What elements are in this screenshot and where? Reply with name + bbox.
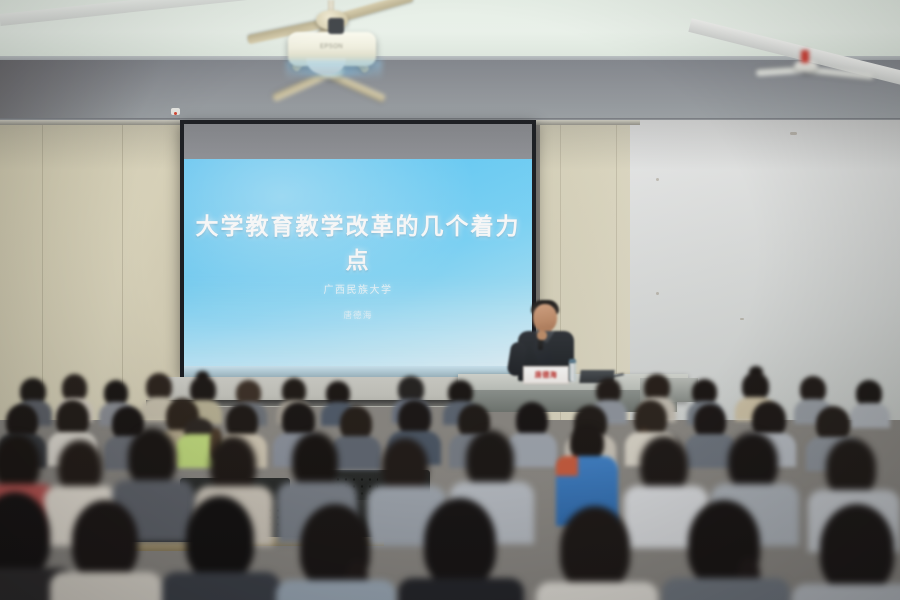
person-hair	[292, 432, 338, 488]
person-hair	[128, 428, 176, 486]
presenter-hand	[537, 331, 547, 340]
slide-subtitle-organization: 广西民族大学	[184, 281, 532, 296]
name-placard: 唐德海	[523, 366, 569, 384]
person-hair	[382, 438, 428, 492]
person-body	[331, 436, 381, 470]
projector-brand-label: EPSON	[320, 44, 343, 50]
person-hair	[186, 496, 254, 580]
lecture-hall-photo: EPSON 大学教育教学改革的几个着力点 广西民族大学 唐德海	[0, 0, 900, 600]
slide-title: 大学教育教学改革的几个着力点	[184, 207, 532, 275]
person-hair	[466, 430, 514, 488]
person-body	[50, 572, 162, 600]
person-body	[536, 582, 658, 600]
ceiling-fan-right	[760, 48, 900, 94]
person-hair	[640, 436, 688, 492]
water-bottle-cap	[569, 359, 576, 363]
screen-letterbox-band	[184, 124, 532, 159]
person-body	[662, 578, 790, 600]
person-hair	[516, 402, 548, 437]
person-hair	[816, 406, 850, 441]
person-hair	[190, 376, 216, 403]
projector-light-beam	[286, 60, 382, 80]
slide-subtitle-presenter: 唐德海	[184, 309, 532, 321]
person-hair	[72, 500, 138, 580]
person-body	[850, 403, 890, 428]
person-hair	[146, 373, 172, 400]
person-hair	[694, 404, 726, 438]
person-hair	[742, 372, 769, 400]
person-hair	[820, 504, 894, 592]
water-bottle	[569, 362, 576, 382]
wall-mark	[656, 292, 659, 295]
person-hair	[340, 406, 372, 440]
presentation-slide: 大学教育教学改革的几个着力点 广西民族大学 唐德海	[184, 159, 532, 366]
person-hair	[58, 440, 102, 492]
person-body	[792, 584, 900, 600]
person-hair	[6, 404, 38, 438]
person-body	[276, 580, 396, 600]
person-hair	[0, 434, 40, 490]
person-hair	[210, 436, 256, 492]
person-hair	[62, 374, 87, 401]
smoke-detector-icon	[171, 108, 180, 115]
wall-mark	[740, 318, 744, 320]
fan-red-marker	[801, 50, 809, 63]
person-hair	[56, 400, 89, 436]
person-body	[507, 433, 557, 467]
person-hair	[826, 438, 876, 496]
person-hair	[560, 506, 630, 590]
person-hair	[398, 400, 431, 435]
person-body	[162, 572, 280, 600]
wall-mark	[656, 178, 659, 181]
person-hair	[424, 498, 496, 586]
projector-mount	[328, 18, 344, 34]
person-collar	[556, 456, 578, 476]
person-hair	[226, 404, 258, 438]
person-hair	[728, 432, 778, 490]
person-hair	[570, 424, 604, 460]
name-placard-text: 唐德海	[535, 370, 558, 380]
person-body	[398, 578, 524, 600]
